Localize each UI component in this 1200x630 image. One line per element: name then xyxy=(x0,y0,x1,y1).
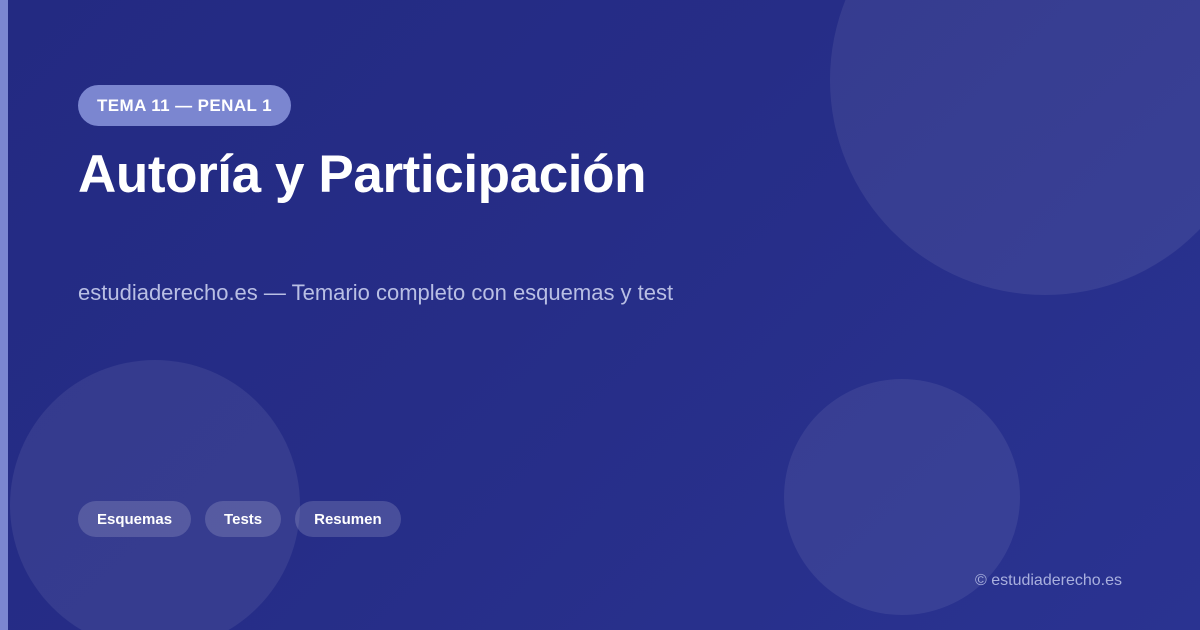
chip-esquemas[interactable]: Esquemas xyxy=(78,501,191,537)
card-content: TEMA 11 — PENAL 1 Autoría y Participació… xyxy=(78,0,1118,630)
chip-resumen[interactable]: Resumen xyxy=(295,501,401,537)
left-accent-bar xyxy=(0,0,8,630)
topic-badge: TEMA 11 — PENAL 1 xyxy=(78,85,291,126)
page-subtitle: estudiaderecho.es — Temario completo con… xyxy=(78,279,673,308)
footer-copyright: © estudiaderecho.es xyxy=(975,572,1122,590)
og-cover-card: TEMA 11 — PENAL 1 Autoría y Participació… xyxy=(0,0,1200,630)
chip-group: Esquemas Tests Resumen xyxy=(78,501,401,537)
chip-tests[interactable]: Tests xyxy=(205,501,281,537)
page-title: Autoría y Participación xyxy=(78,146,646,204)
